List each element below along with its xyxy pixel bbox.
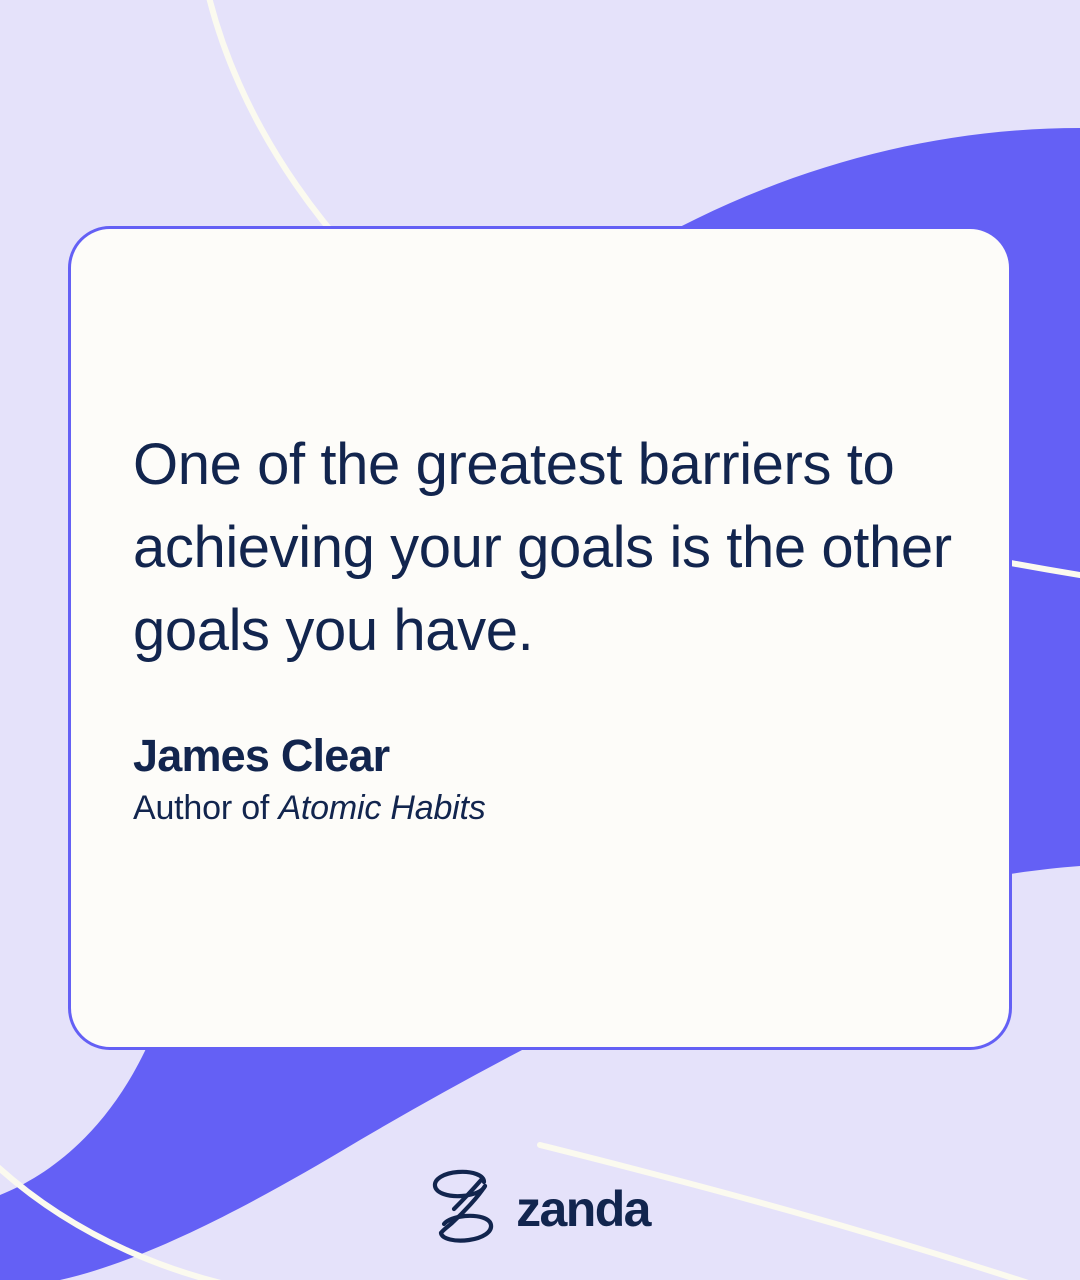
author-role: Author of Atomic Habits — [133, 787, 486, 829]
author-name: James Clear — [133, 729, 486, 783]
quote-card-content: One of the greatest barriers to achievin… — [133, 229, 969, 1047]
quote-card: One of the greatest barriers to achievin… — [68, 226, 1012, 1050]
attribution-block: James Clear Author of Atomic Habits — [133, 729, 486, 829]
brand-lockup: zanda — [0, 1160, 1080, 1252]
zanda-scribble-z-logo-icon — [430, 1167, 502, 1245]
brand-wordmark: zanda — [516, 1184, 650, 1234]
author-role-prefix: Author of — [133, 789, 278, 827]
author-role-work-title: Atomic Habits — [278, 789, 485, 827]
quote-text: One of the greatest barriers to achievin… — [133, 423, 969, 672]
quote-graphic-canvas: One of the greatest barriers to achievin… — [0, 0, 1080, 1280]
